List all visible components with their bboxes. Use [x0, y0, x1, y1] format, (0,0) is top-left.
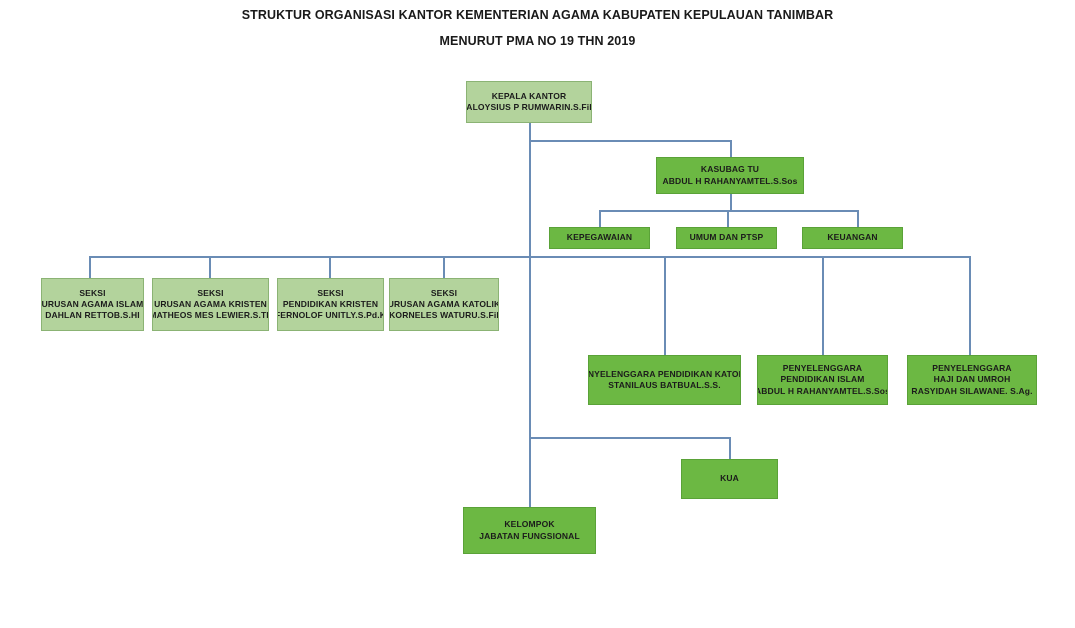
connector-umum-ptsp-drop [727, 210, 729, 227]
connector-seksi-pendidikan-kristen-drop [329, 256, 331, 278]
node-keuangan-label: KEUANGAN [827, 232, 877, 243]
node-seksi-urusan-agama-islam[interactable]: SEKSI URUSAN AGAMA ISLAM DAHLAN RETTOB.S… [41, 278, 144, 331]
node-penyelenggara-pendidikan-katolik-line-2: STANILAUS BATBUAL.S.S. [608, 380, 721, 391]
connector-penyelenggara-katolik-drop [664, 256, 666, 355]
connector-seksi-islam-drop [89, 256, 91, 278]
node-seksi-urusan-agama-katolik[interactable]: SEKSI URUSAN AGAMA KATOLIK KORNELES WATU… [389, 278, 499, 331]
node-penyelenggara-pendidikan-katolik-line-1: PENYELENGGARA PENDIDIKAN KATOLIK [588, 369, 741, 380]
node-kua[interactable]: KUA [681, 459, 778, 499]
connector-penyelenggara-islam-drop [822, 256, 824, 355]
chart-title-line-1: STRUKTUR ORGANISASI KANTOR KEMENTERIAN A… [0, 8, 1075, 22]
node-kepegawaian-label: KEPEGAWAIAN [567, 232, 632, 243]
node-kua-label: KUA [720, 473, 739, 484]
connector-kasubag-stem [730, 194, 732, 211]
node-kepegawaian[interactable]: KEPEGAWAIAN [549, 227, 650, 249]
connector-kasubag-drop [730, 140, 732, 158]
node-kelompok-jabatan-fungsional-line-2: JABATAN FUNGSIONAL [479, 531, 580, 542]
node-seksi-pendidikan-kristen[interactable]: SEKSI PENDIDIKAN KRISTEN FERNOLOF UNITLY… [277, 278, 384, 331]
node-seksi-urusan-agama-islam-line-1: SEKSI [79, 288, 105, 299]
connector-kua-drop [729, 437, 731, 459]
node-seksi-urusan-agama-islam-line-2: URUSAN AGAMA ISLAM [42, 299, 144, 310]
node-penyelenggara-haji-dan-umroh-line-3: RASYIDAH SILAWANE. S.Ag. [911, 386, 1032, 397]
node-seksi-urusan-agama-islam-line-3: DAHLAN RETTOB.S.HI [45, 310, 140, 321]
connector-penyelenggara-haji-drop [969, 256, 971, 355]
node-penyelenggara-haji-dan-umroh[interactable]: PENYELENGGARA HAJI DAN UMROH RASYIDAH SI… [907, 355, 1037, 405]
node-seksi-pendidikan-kristen-line-1: SEKSI [317, 288, 343, 299]
chart-title-line-2: MENURUT PMA NO 19 THN 2019 [0, 34, 1075, 48]
node-keuangan[interactable]: KEUANGAN [802, 227, 903, 249]
node-umum-dan-ptsp-label: UMUM DAN PTSP [690, 232, 764, 243]
node-kepala-kantor-line-1: KEPALA KANTOR [492, 91, 567, 102]
node-seksi-urusan-agama-katolik-line-1: SEKSI [431, 288, 457, 299]
node-seksi-urusan-agama-kristen[interactable]: SEKSI URUSAN AGAMA KRISTEN MATHEOS MES L… [152, 278, 269, 331]
connector-kepegawaian-drop [599, 210, 601, 227]
node-seksi-urusan-agama-katolik-line-3: KORNELES WATURU.S.Fil [389, 310, 499, 321]
node-kelompok-jabatan-fungsional[interactable]: KELOMPOK JABATAN FUNGSIONAL [463, 507, 596, 554]
node-penyelenggara-pendidikan-islam-line-1: PENYELENGGARA [783, 363, 862, 374]
node-penyelenggara-pendidikan-islam-line-2: PENDIDIKAN ISLAM [780, 374, 864, 385]
connector-kepala-stem [529, 123, 531, 141]
node-kasubag-tu-line-1: KASUBAG TU [701, 164, 759, 175]
connector-kepala-bar [529, 140, 732, 142]
node-kasubag-tu-line-2: ABDUL H RAHANYAMTEL.S.Sos [662, 176, 797, 187]
connector-seksi-katolik-drop [443, 256, 445, 278]
connector-lower-trunk [529, 256, 531, 507]
node-umum-dan-ptsp[interactable]: UMUM DAN PTSP [676, 227, 777, 249]
node-seksi-urusan-agama-katolik-line-2: URUSAN AGAMA KATOLIK [389, 299, 499, 310]
node-penyelenggara-pendidikan-katolik[interactable]: PENYELENGGARA PENDIDIKAN KATOLIK STANILA… [588, 355, 741, 405]
organization-chart: STRUKTUR ORGANISASI KANTOR KEMENTERIAN A… [0, 0, 1075, 628]
connector-keuangan-drop [857, 210, 859, 227]
node-seksi-urusan-agama-kristen-line-3: MATHEOS MES LEWIER.S.Th [152, 310, 269, 321]
node-penyelenggara-haji-dan-umroh-line-2: HAJI DAN UMROH [934, 374, 1011, 385]
node-seksi-pendidikan-kristen-line-3: FERNOLOF UNITLY.S.Pd.K [277, 310, 384, 321]
node-kasubag-tu[interactable]: KASUBAG TU ABDUL H RAHANYAMTEL.S.Sos [656, 157, 804, 194]
connector-bottom-bar [529, 437, 730, 439]
connector-seksi-kristen-drop [209, 256, 211, 278]
node-penyelenggara-pendidikan-islam[interactable]: PENYELENGGARA PENDIDIKAN ISLAM ABDUL H R… [757, 355, 888, 405]
node-penyelenggara-pendidikan-islam-line-3: ABDUL H RAHANYAMTEL.S.Sos [757, 386, 888, 397]
node-seksi-urusan-agama-kristen-line-1: SEKSI [197, 288, 223, 299]
node-kelompok-jabatan-fungsional-line-1: KELOMPOK [504, 519, 554, 530]
node-penyelenggara-haji-dan-umroh-line-1: PENYELENGGARA [932, 363, 1011, 374]
node-kepala-kantor-line-2: ALOYSIUS P RUMWARIN.S.Fil [466, 102, 591, 113]
connector-main-trunk [529, 140, 531, 258]
node-kepala-kantor[interactable]: KEPALA KANTOR ALOYSIUS P RUMWARIN.S.Fil [466, 81, 592, 123]
node-seksi-urusan-agama-kristen-line-2: URUSAN AGAMA KRISTEN [154, 299, 267, 310]
node-seksi-pendidikan-kristen-line-2: PENDIDIKAN KRISTEN [283, 299, 378, 310]
